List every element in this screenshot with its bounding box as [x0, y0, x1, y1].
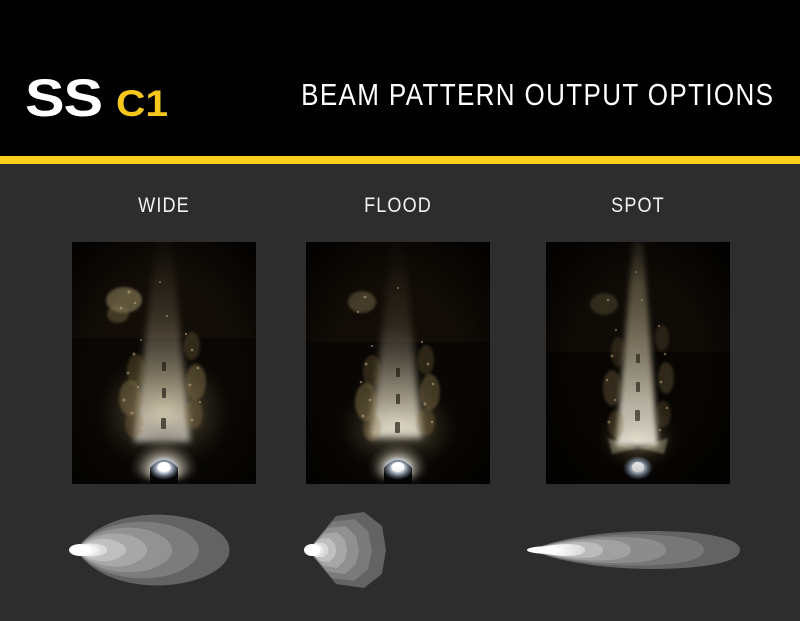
page-title: BEAM PATTERN OUTPUT OPTIONS	[301, 77, 774, 113]
logo-primary-text: SS	[25, 72, 102, 125]
beam-option-spot: SPOT	[518, 164, 758, 621]
brand-logo: SS C1	[25, 72, 163, 125]
beam-option-label-spot: SPOT	[535, 194, 741, 218]
beam-pattern-diagram-wide	[44, 500, 284, 600]
beam-options-grid: WIDE	[0, 164, 800, 621]
night-road-beam-photo-wide	[72, 242, 256, 484]
beam-option-label-wide: WIDE	[61, 194, 267, 218]
yellow-divider	[0, 156, 800, 164]
night-road-beam-photo-flood	[306, 242, 490, 484]
night-road-beam-photo-spot	[546, 242, 730, 484]
beam-option-flood: FLOOD	[278, 164, 518, 621]
beam-option-wide: WIDE	[44, 164, 284, 621]
logo-suffix-text: C1	[116, 85, 168, 122]
beam-pattern-diagram-spot	[518, 500, 758, 600]
header-bar: SS C1 BEAM PATTERN OUTPUT OPTIONS	[0, 0, 800, 156]
beam-pattern-diagram-flood	[278, 500, 518, 600]
beam-option-label-flood: FLOOD	[295, 194, 501, 218]
